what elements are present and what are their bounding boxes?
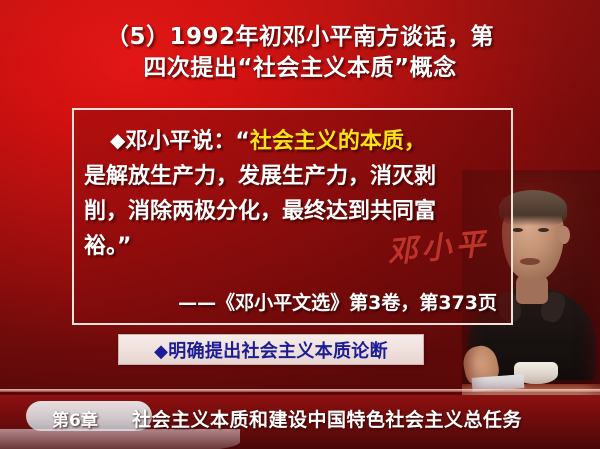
quote-citation: ——《邓小平文选》第3卷，第373页 — [74, 288, 497, 315]
callout-text: ◆明确提出社会主义本质论断 — [154, 337, 388, 363]
photo-ear — [558, 226, 570, 244]
diamond-icon: ◆ — [110, 128, 125, 152]
callout-box: ◆明确提出社会主义本质论断 — [118, 334, 424, 365]
photo-eye-right — [538, 228, 549, 232]
quote-speaker-prefix: 邓小平说：“ — [125, 129, 249, 154]
quote-line-2: 是解放生产力，发展生产力，消灭剥 — [84, 159, 504, 194]
footer-chapter-label: 第6章 — [52, 406, 98, 431]
footer-swoosh-shape — [0, 429, 240, 449]
footer-bar: 第6章 社会主义本质和建设中国特色社会主义总任务 — [0, 395, 600, 449]
page-title: （5）1992年初邓小平南方谈话，第 四次提出“社会主义本质”概念 — [0, 22, 600, 84]
photo-eye-left — [512, 228, 523, 232]
presentation-slide: （5）1992年初邓小平南方谈话，第 四次提出“社会主义本质”概念 ◆邓小平说：… — [0, 0, 600, 449]
footer-divider — [0, 389, 600, 392]
photo-mouth — [520, 258, 540, 265]
quote-box: ◆邓小平说：“社会主义的本质， 是解放生产力，发展生产力，消灭剥 削，消除两极分… — [72, 108, 513, 325]
footer-title-label: 社会主义本质和建设中国特色社会主义总任务 — [132, 405, 522, 432]
quote-highlight-text: 社会主义的本质， — [250, 129, 426, 154]
quote-line-1: ◆邓小平说：“社会主义的本质， — [84, 123, 504, 159]
title-line-2: 四次提出“社会主义本质”概念 — [0, 53, 600, 84]
deng-signature: 邓小平 — [385, 219, 490, 272]
title-line-1: （5）1992年初邓小平南方谈话，第 — [0, 22, 600, 53]
